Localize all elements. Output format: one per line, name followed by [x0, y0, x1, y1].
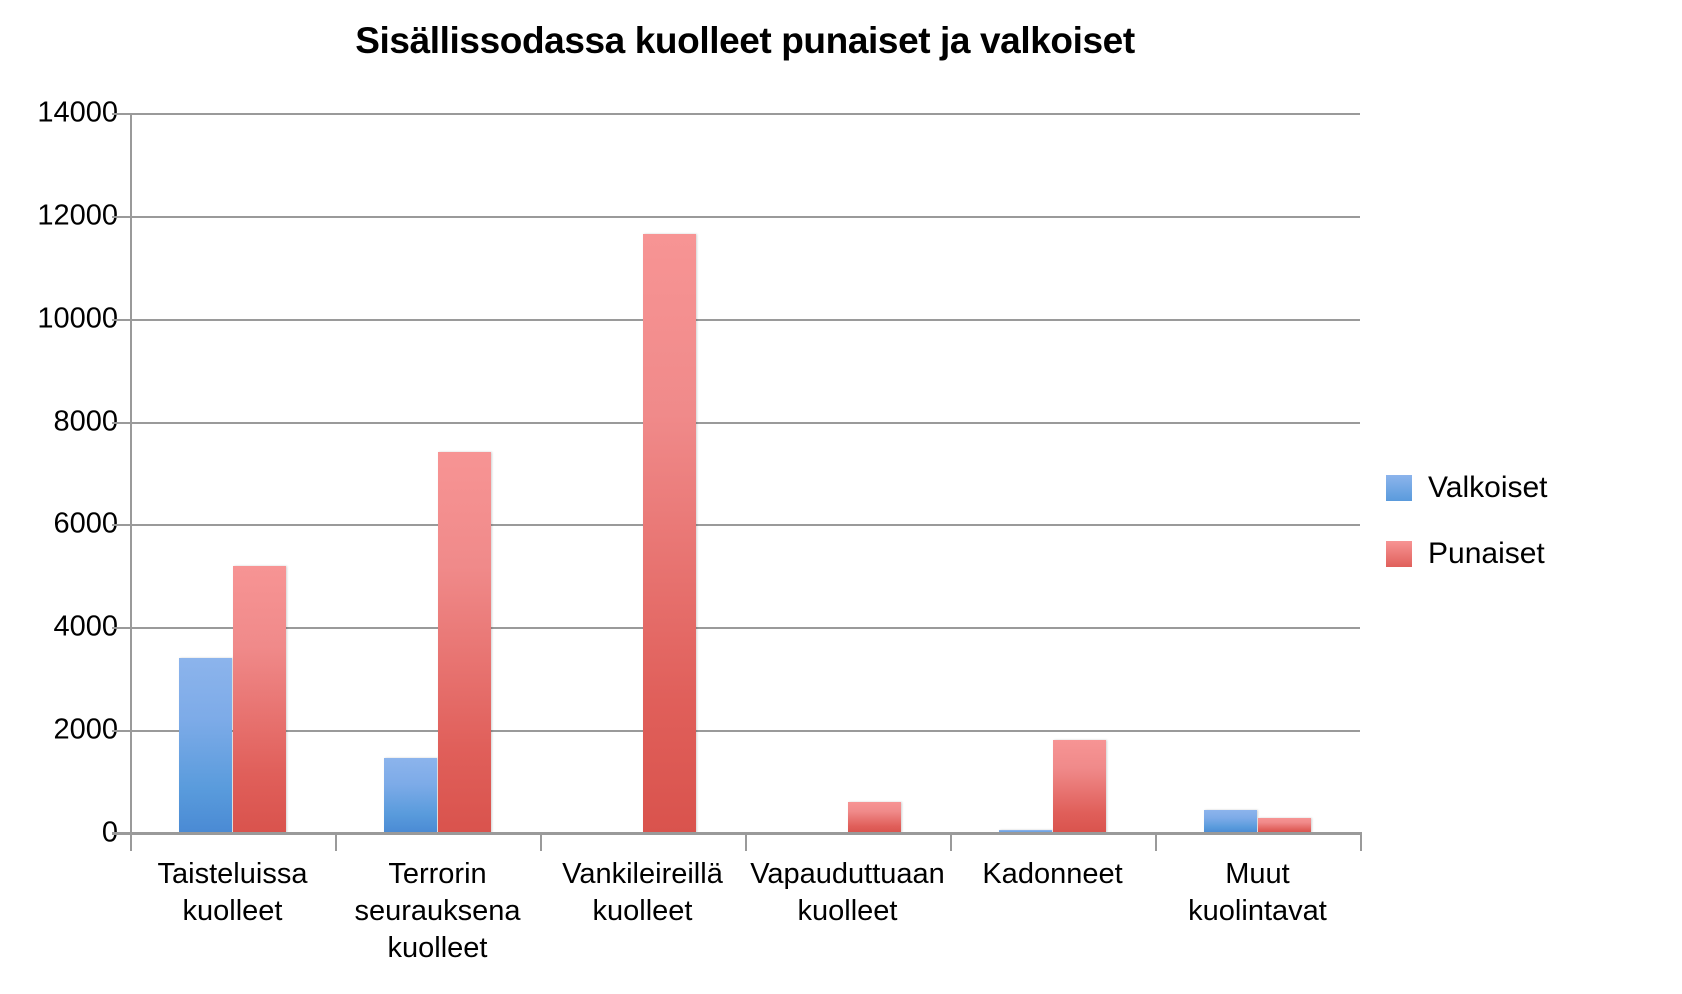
y-axis-tick-label: 12000 — [8, 199, 118, 232]
chart-title: Sisällissodassa kuolleet punaiset ja val… — [130, 20, 1360, 62]
bar-punaiset-0[interactable] — [233, 566, 286, 833]
gridline — [130, 627, 1360, 629]
gridline — [130, 216, 1360, 218]
y-axis-tick-mark — [112, 730, 130, 732]
x-axis-category-label-line: Terrorin — [335, 856, 540, 893]
x-axis-category-label-line: kuolleet — [745, 893, 950, 930]
x-axis-tick-mark — [540, 833, 542, 851]
gridline — [130, 113, 1360, 115]
bar-punaiset-3[interactable] — [848, 802, 901, 833]
bar-valkoiset-0[interactable] — [179, 658, 232, 833]
x-axis-category-labels: TaisteluissakuolleetTerrorinseurauksenak… — [130, 856, 1360, 986]
plot-area — [130, 113, 1360, 833]
gridline — [130, 422, 1360, 424]
x-axis-category-label-line: kuolintavat — [1155, 893, 1360, 930]
bar-valkoiset-5[interactable] — [1204, 810, 1257, 833]
x-axis-category-label: Taisteluissakuolleet — [130, 856, 335, 930]
y-axis-tick-labels: 14000120001000080006000400020000 — [0, 113, 118, 833]
y-axis-tick-label: 2000 — [8, 714, 118, 747]
x-axis-category-label-line: kuolleet — [540, 893, 745, 930]
x-axis-category-label-line: Muut — [1155, 856, 1360, 893]
x-axis-category-label: Vapauduttuaankuolleet — [745, 856, 950, 930]
x-axis-category-label-line: Kadonneet — [950, 856, 1155, 893]
x-axis-category-label-line: Vankileireillä — [540, 856, 745, 893]
y-axis-tick-mark — [112, 319, 130, 321]
x-axis-tick-mark — [745, 833, 747, 851]
y-axis-tick-mark — [112, 422, 130, 424]
y-axis-tick-mark — [112, 627, 130, 629]
x-axis-tick-mark — [1155, 833, 1157, 851]
y-axis-tick-label: 14000 — [8, 97, 118, 130]
y-axis-tick-label: 8000 — [8, 405, 118, 438]
x-axis-tick-mark — [335, 833, 337, 851]
y-axis-tick-mark — [112, 113, 130, 115]
bar-chart: Sisällissodassa kuolleet punaiset ja val… — [0, 0, 1682, 994]
gridline — [130, 319, 1360, 321]
x-axis-category-label: Muutkuolintavat — [1155, 856, 1360, 930]
gridline — [130, 730, 1360, 732]
y-axis-tick-label: 10000 — [8, 302, 118, 335]
x-axis-category-label: Vankileireilläkuolleet — [540, 856, 745, 930]
bar-punaiset-5[interactable] — [1258, 818, 1311, 833]
x-axis-category-label-line: kuolleet — [335, 930, 540, 967]
x-axis-category-label-line: Vapauduttuaan — [745, 856, 950, 893]
bar-punaiset-1[interactable] — [438, 452, 491, 833]
legend-swatch-icon — [1386, 541, 1412, 567]
x-axis-category-label: Terrorinseurauksenakuolleet — [335, 856, 540, 967]
y-axis-tick-label: 0 — [8, 817, 118, 850]
legend-item-label: Punaiset — [1428, 537, 1545, 571]
legend-item-punaiset[interactable]: Punaiset — [1386, 521, 1666, 587]
y-axis-tick-label: 6000 — [8, 508, 118, 541]
x-axis-tick-mark — [130, 833, 132, 851]
x-axis-tick-mark — [950, 833, 952, 851]
y-axis-tick-label: 4000 — [8, 611, 118, 644]
legend-swatch-icon — [1386, 475, 1412, 501]
y-axis-tick-mark — [112, 524, 130, 526]
gridline — [130, 524, 1360, 526]
bar-punaiset-4[interactable] — [1053, 740, 1106, 833]
bar-valkoiset-1[interactable] — [384, 758, 437, 833]
x-axis-category-label-line: seurauksena — [335, 893, 540, 930]
x-axis-category-label: Kadonneet — [950, 856, 1155, 893]
x-axis-tick-marks — [130, 833, 1360, 851]
legend-item-valkoiset[interactable]: Valkoiset — [1386, 455, 1666, 521]
y-axis-tick-mark — [112, 216, 130, 218]
bar-punaiset-2[interactable] — [643, 234, 696, 833]
x-axis-category-label-line: kuolleet — [130, 893, 335, 930]
x-axis-category-label-line: Taisteluissa — [130, 856, 335, 893]
y-axis-line — [130, 113, 132, 835]
x-axis-tick-mark — [1360, 833, 1362, 851]
legend: ValkoisetPunaiset — [1386, 455, 1666, 587]
legend-item-label: Valkoiset — [1428, 471, 1548, 505]
